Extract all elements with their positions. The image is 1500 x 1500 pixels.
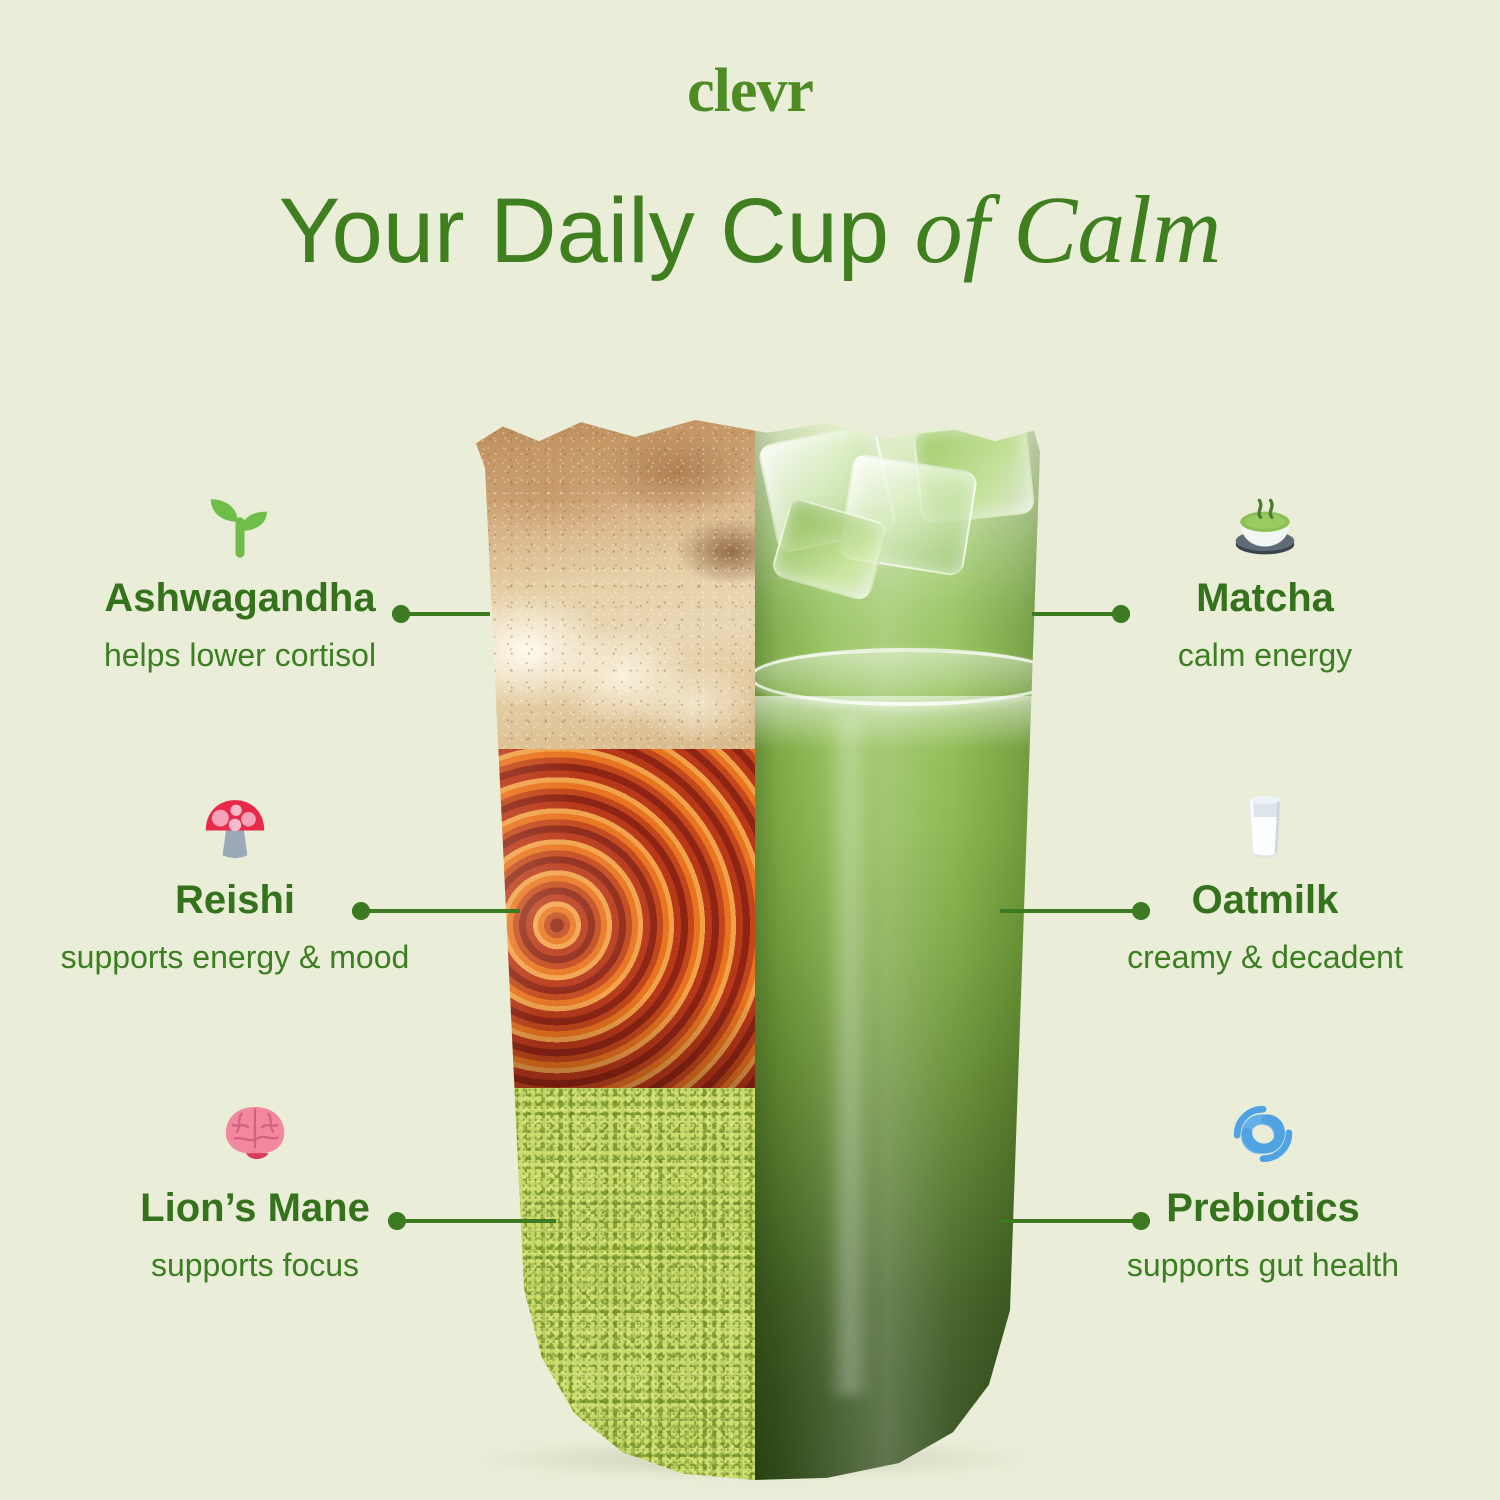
- feature-desc: supports focus: [45, 1246, 465, 1284]
- connector-line: [1000, 909, 1150, 913]
- spiral-icon: [1227, 1098, 1299, 1170]
- connector-ashwagandha: [392, 605, 490, 623]
- connector-line: [1000, 1219, 1150, 1223]
- milk-glass-icon: [1229, 790, 1301, 862]
- feature-desc: calm energy: [1055, 636, 1475, 674]
- connector-reishi: [352, 902, 520, 920]
- feature-desc: supports energy & mood: [20, 938, 450, 976]
- mushroom-icon: [199, 790, 271, 862]
- brand-logo: clevr: [0, 60, 1500, 122]
- infographic-canvas: clevr Your Daily Cup of Calm: [0, 0, 1500, 1500]
- page-title-italic: of Calm: [915, 176, 1222, 283]
- page-title: Your Daily Cup of Calm: [0, 178, 1500, 282]
- foam-line: [755, 696, 1055, 749]
- connector-dot: [352, 902, 370, 920]
- connector-dot: [1112, 605, 1130, 623]
- connector-dot: [1132, 902, 1150, 920]
- connector-line: [388, 1219, 556, 1223]
- sprout-icon: [204, 488, 276, 560]
- page-title-regular: Your Daily Cup: [279, 180, 915, 282]
- feature-desc: helps lower cortisol: [30, 636, 450, 674]
- matcha-powder-photo-strip: [455, 1088, 755, 1480]
- matcha-latte-half: [755, 420, 1055, 1480]
- brain-icon: [219, 1098, 291, 1170]
- matcha-bowl-icon: [1229, 488, 1301, 560]
- glass-highlight: [827, 717, 872, 1395]
- connector-dot: [1132, 1212, 1150, 1230]
- feature-desc: supports gut health: [1048, 1246, 1478, 1284]
- ingredient-photo-column: [455, 420, 755, 1480]
- connector-line: [352, 909, 520, 913]
- product-image: [455, 420, 1055, 1480]
- connector-lions-mane: [388, 1212, 556, 1230]
- ashwagandha-photo-strip: [455, 420, 755, 749]
- connector-dot: [392, 605, 410, 623]
- ice-zone: [755, 420, 1055, 632]
- feature-desc: creamy & decadent: [1055, 938, 1475, 976]
- connector-matcha: [1032, 605, 1130, 623]
- connector-prebiotics: [1000, 1212, 1150, 1230]
- cup-silhouette: [455, 420, 1055, 1480]
- connector-dot: [388, 1212, 406, 1230]
- feature-title: Ashwagandha: [30, 576, 450, 620]
- connector-oatmilk: [1000, 902, 1150, 920]
